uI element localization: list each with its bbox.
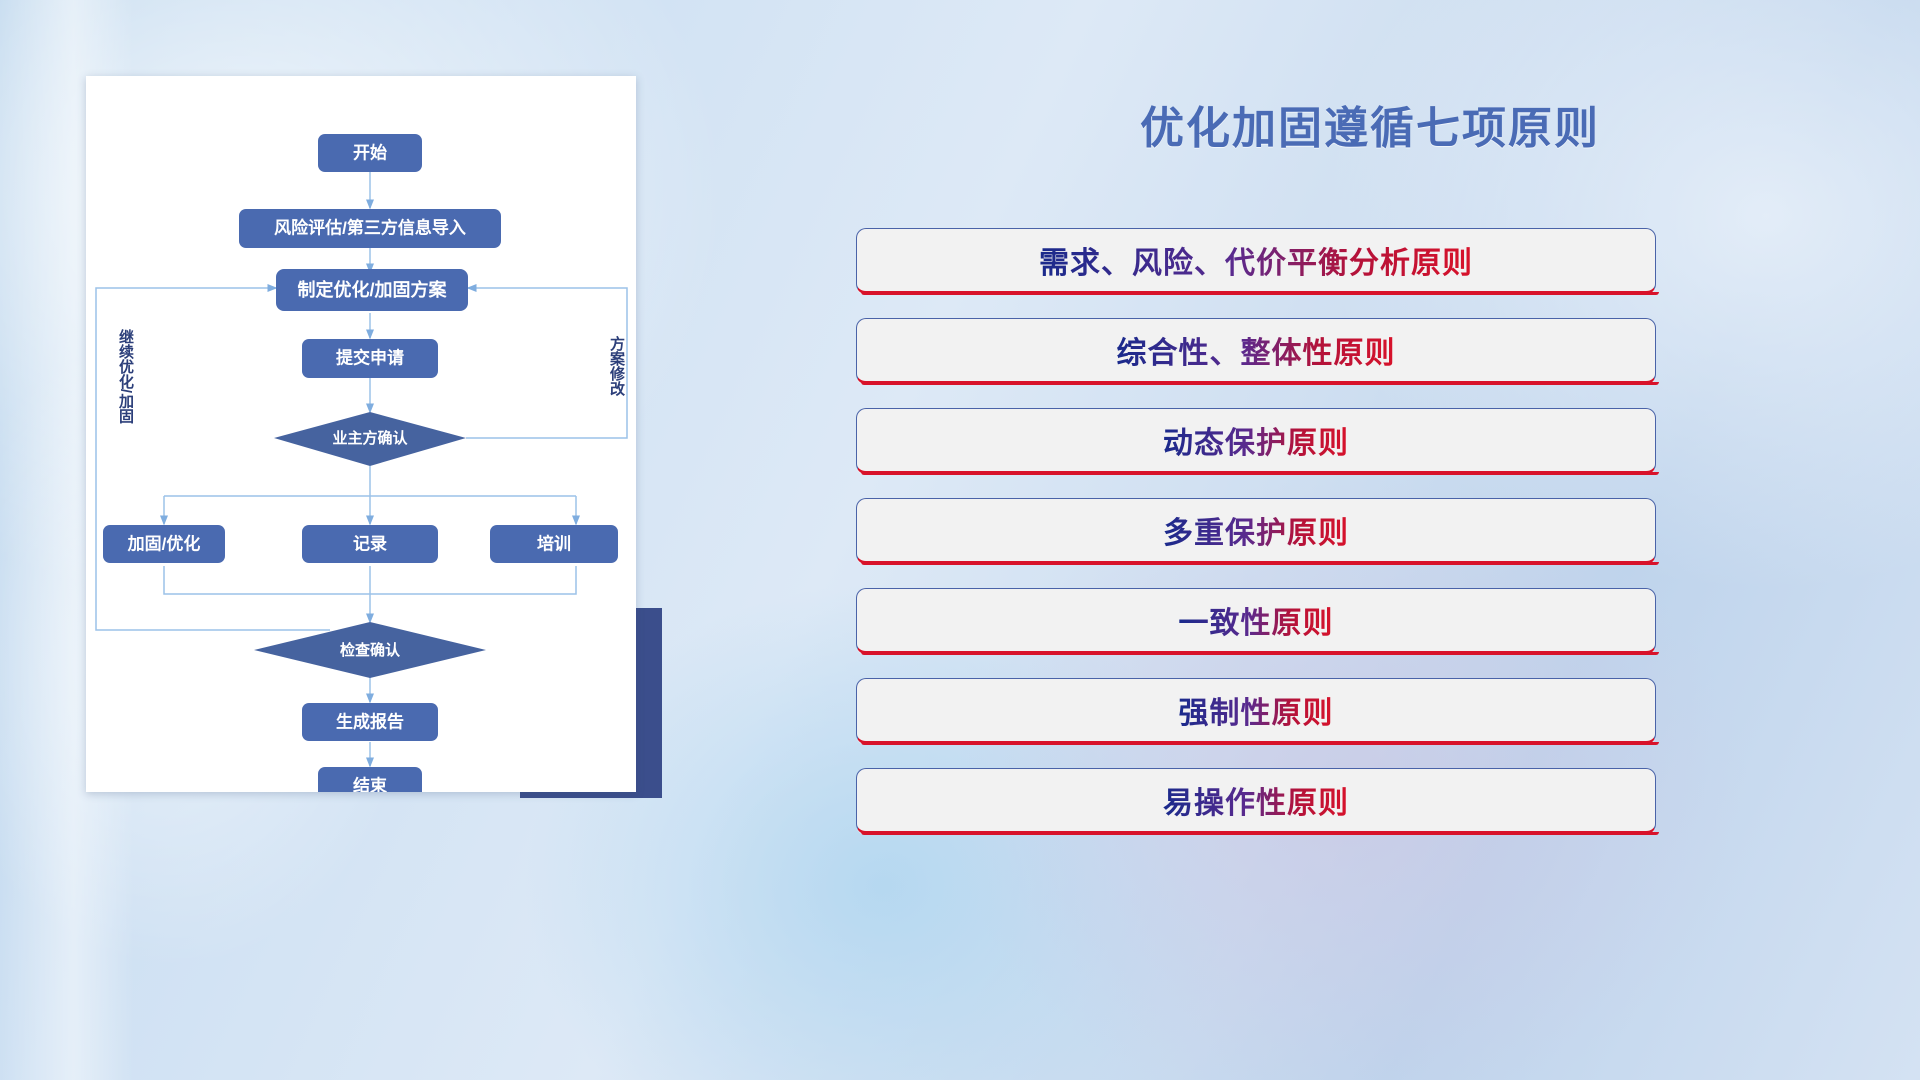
flow-node-report-label: 生成报告 bbox=[336, 711, 404, 731]
flow-node-reinforce[interactable]: 加固/优化 bbox=[103, 525, 225, 563]
flow-node-report[interactable]: 生成报告 bbox=[302, 703, 438, 741]
principle-card-7-label: 易操作性原则 bbox=[1163, 778, 1349, 822]
flow-node-plan[interactable]: 制定优化/加固方案 bbox=[276, 269, 468, 311]
flow-node-train-label: 培训 bbox=[537, 533, 571, 553]
flow-node-train[interactable]: 培训 bbox=[490, 525, 618, 563]
flowchart-panel: 开始 风险评估/第三方信息导入 制定优化/加固方案 提交申请 业主方确认 加固/… bbox=[0, 0, 820, 1080]
flow-node-owner-confirm[interactable]: 业主方确认 bbox=[274, 412, 466, 466]
principle-card-2-label: 综合性、整体性原则 bbox=[1117, 328, 1396, 372]
principle-card-3-label: 动态保护原则 bbox=[1163, 418, 1349, 462]
edge-right-loop-to-plan bbox=[466, 288, 627, 438]
flow-node-record-label: 记录 bbox=[353, 534, 387, 553]
flow-edge-label-left-loop: 继续优化/加固 bbox=[117, 328, 135, 424]
principle-card-6[interactable]: 强制性原则 bbox=[856, 678, 1656, 744]
flow-node-risk[interactable]: 风险评估/第三方信息导入 bbox=[239, 209, 501, 248]
flow-node-owner-confirm-label: 业主方确认 bbox=[332, 429, 408, 447]
principle-card-1-label: 需求、风险、代价平衡分析原则 bbox=[1039, 238, 1473, 282]
flowchart-diagram: 开始 风险评估/第三方信息导入 制定优化/加固方案 提交申请 业主方确认 加固/… bbox=[86, 76, 636, 792]
principle-card-5-label: 一致性原则 bbox=[1179, 598, 1334, 642]
flow-node-submit-label: 提交申请 bbox=[336, 347, 404, 367]
flow-node-reinforce-label: 加固/优化 bbox=[127, 533, 201, 553]
flow-node-plan-label: 制定优化/加固方案 bbox=[297, 279, 447, 300]
flow-node-check-label: 检查确认 bbox=[340, 641, 401, 659]
flow-node-submit[interactable]: 提交申请 bbox=[302, 339, 438, 378]
principles-panel: 优化加固遵循七项原则 需求、风险、代价平衡分析原则 综合性、整体性原则 动态保护… bbox=[820, 0, 1920, 1080]
flow-node-start[interactable]: 开始 bbox=[318, 134, 422, 172]
principle-card-3[interactable]: 动态保护原则 bbox=[856, 408, 1656, 474]
principle-card-6-label: 强制性原则 bbox=[1179, 688, 1334, 732]
principles-list: 需求、风险、代价平衡分析原则 综合性、整体性原则 动态保护原则 多重保护原则 一… bbox=[836, 228, 1906, 858]
principle-card-7[interactable]: 易操作性原则 bbox=[856, 768, 1656, 834]
flow-node-end[interactable]: 结束 bbox=[318, 767, 422, 792]
principle-card-5[interactable]: 一致性原则 bbox=[856, 588, 1656, 654]
flow-node-risk-label: 风险评估/第三方信息导入 bbox=[274, 217, 466, 237]
principle-card-4-label: 多重保护原则 bbox=[1163, 508, 1349, 552]
flow-edge-label-right-loop: 方案修改 bbox=[608, 335, 626, 397]
principle-card-1[interactable]: 需求、风险、代价平衡分析原则 bbox=[856, 228, 1656, 294]
flow-node-start-label: 开始 bbox=[353, 142, 387, 162]
flow-node-record[interactable]: 记录 bbox=[302, 525, 438, 563]
principle-card-4[interactable]: 多重保护原则 bbox=[856, 498, 1656, 564]
flow-node-end-label: 结束 bbox=[353, 775, 387, 792]
principle-card-2[interactable]: 综合性、整体性原则 bbox=[856, 318, 1656, 384]
principles-title: 优化加固遵循七项原则 bbox=[970, 92, 1770, 156]
